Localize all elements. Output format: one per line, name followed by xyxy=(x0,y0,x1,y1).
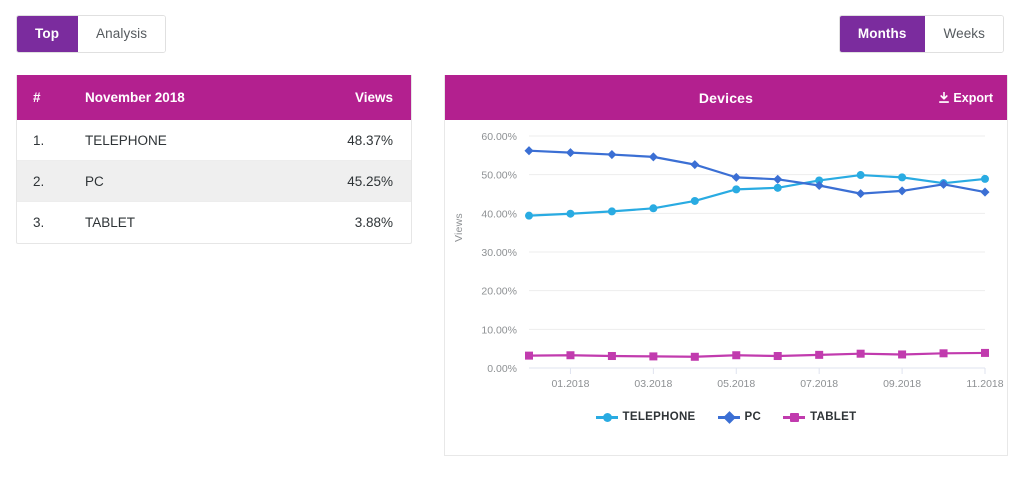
view-mode-tabs[interactable]: Top Analysis xyxy=(16,15,166,53)
y-axis-tick-label: 10.00% xyxy=(481,324,517,336)
cell-name: TELEPHONE xyxy=(85,133,301,148)
y-axis-tick-label: 40.00% xyxy=(481,208,517,220)
data-point[interactable] xyxy=(981,349,989,357)
x-axis-tick-label: 01.2018 xyxy=(551,378,589,390)
y-axis-label: Views xyxy=(453,213,465,242)
column-header-month: November 2018 xyxy=(85,90,301,105)
chart-plot-area: Views 0.00%10.00%20.00%30.00%40.00%50.00… xyxy=(445,120,1007,454)
data-point[interactable] xyxy=(732,351,740,359)
data-point[interactable] xyxy=(608,207,616,215)
line-chart-svg[interactable]: 0.00%10.00%20.00%30.00%40.00%50.00%60.00… xyxy=(445,120,1007,410)
table-row[interactable]: 2. PC 45.25% xyxy=(17,161,411,202)
x-axis-tick-label: 11.2018 xyxy=(966,378,1003,390)
data-point[interactable] xyxy=(980,188,989,197)
chart-title: Devices xyxy=(699,90,753,106)
table-row[interactable]: 3. TABLET 3.88% xyxy=(17,202,411,243)
legend-item-tablet[interactable]: TABLET xyxy=(783,411,856,423)
table-header-row: # November 2018 Views xyxy=(17,75,411,120)
cell-name: TABLET xyxy=(85,215,301,230)
x-axis-tick-label: 03.2018 xyxy=(634,378,672,390)
export-label: Export xyxy=(953,91,993,105)
data-point[interactable] xyxy=(566,351,574,359)
legend-label: TABLET xyxy=(810,411,856,423)
chart-legend[interactable]: TELEPHONEPCTABLET xyxy=(445,411,1007,423)
x-axis-tick-label: 09.2018 xyxy=(883,378,921,390)
tab-weeks[interactable]: Weeks xyxy=(925,16,1003,52)
devices-chart-card: Devices Export Views 0.00%10.00%20.00%30… xyxy=(444,75,1008,456)
cell-views: 45.25% xyxy=(301,174,411,189)
data-point[interactable] xyxy=(608,352,616,360)
series-pc[interactable] xyxy=(524,146,989,198)
chart-header: Devices Export xyxy=(445,75,1007,120)
legend-label: PC xyxy=(745,411,762,423)
data-point[interactable] xyxy=(525,212,533,220)
data-point[interactable] xyxy=(690,160,699,169)
data-point[interactable] xyxy=(815,351,823,359)
table-row[interactable]: 1. TELEPHONE 48.37% xyxy=(17,120,411,161)
data-point[interactable] xyxy=(649,152,658,161)
data-point[interactable] xyxy=(691,197,699,205)
data-point[interactable] xyxy=(566,210,574,218)
cell-rank: 1. xyxy=(17,133,85,148)
legend-item-telephone[interactable]: TELEPHONE xyxy=(596,411,696,423)
data-point[interactable] xyxy=(732,185,740,193)
tab-analysis[interactable]: Analysis xyxy=(78,16,165,52)
data-point[interactable] xyxy=(773,175,782,184)
cell-name: PC xyxy=(85,174,301,189)
column-header-rank: # xyxy=(17,90,85,105)
y-axis-tick-label: 50.00% xyxy=(481,170,517,182)
data-point[interactable] xyxy=(774,184,782,192)
data-point[interactable] xyxy=(857,171,865,179)
x-axis-tick-label: 07.2018 xyxy=(800,378,838,390)
data-point[interactable] xyxy=(566,148,575,157)
legend-swatch xyxy=(783,416,805,419)
column-header-views: Views xyxy=(301,90,411,105)
legend-swatch xyxy=(718,416,740,419)
data-point[interactable] xyxy=(607,150,616,159)
data-point[interactable] xyxy=(691,353,699,361)
data-point[interactable] xyxy=(525,352,533,360)
export-button[interactable]: Export xyxy=(938,91,993,105)
data-point[interactable] xyxy=(774,352,782,360)
legend-label: TELEPHONE xyxy=(623,411,696,423)
y-axis-tick-label: 60.00% xyxy=(481,131,517,143)
dashboard-page: Top Analysis Months Weeks # November 201… xyxy=(0,0,1024,477)
legend-item-pc[interactable]: PC xyxy=(718,411,762,423)
legend-swatch xyxy=(596,416,618,419)
cell-rank: 2. xyxy=(17,174,85,189)
download-icon xyxy=(938,92,950,104)
data-point[interactable] xyxy=(524,146,533,155)
tab-top[interactable]: Top xyxy=(17,16,78,52)
y-axis-tick-label: 20.00% xyxy=(481,286,517,298)
data-point[interactable] xyxy=(856,189,865,198)
data-point[interactable] xyxy=(898,173,906,181)
cell-rank: 3. xyxy=(17,215,85,230)
data-point[interactable] xyxy=(649,204,657,212)
cell-views: 3.88% xyxy=(301,215,411,230)
devices-table-card: # November 2018 Views 1. TELEPHONE 48.37… xyxy=(16,75,412,244)
data-point[interactable] xyxy=(898,186,907,195)
tab-months[interactable]: Months xyxy=(840,16,926,52)
data-point[interactable] xyxy=(857,350,865,358)
y-axis-tick-label: 0.00% xyxy=(487,363,517,375)
x-axis-tick-label: 05.2018 xyxy=(717,378,755,390)
data-point[interactable] xyxy=(981,175,989,183)
data-point[interactable] xyxy=(649,352,657,360)
series-tablet[interactable] xyxy=(525,349,989,361)
data-point[interactable] xyxy=(940,349,948,357)
cell-views: 48.37% xyxy=(301,133,411,148)
y-axis-tick-label: 30.00% xyxy=(481,247,517,259)
data-point[interactable] xyxy=(898,350,906,358)
period-tabs[interactable]: Months Weeks xyxy=(839,15,1004,53)
